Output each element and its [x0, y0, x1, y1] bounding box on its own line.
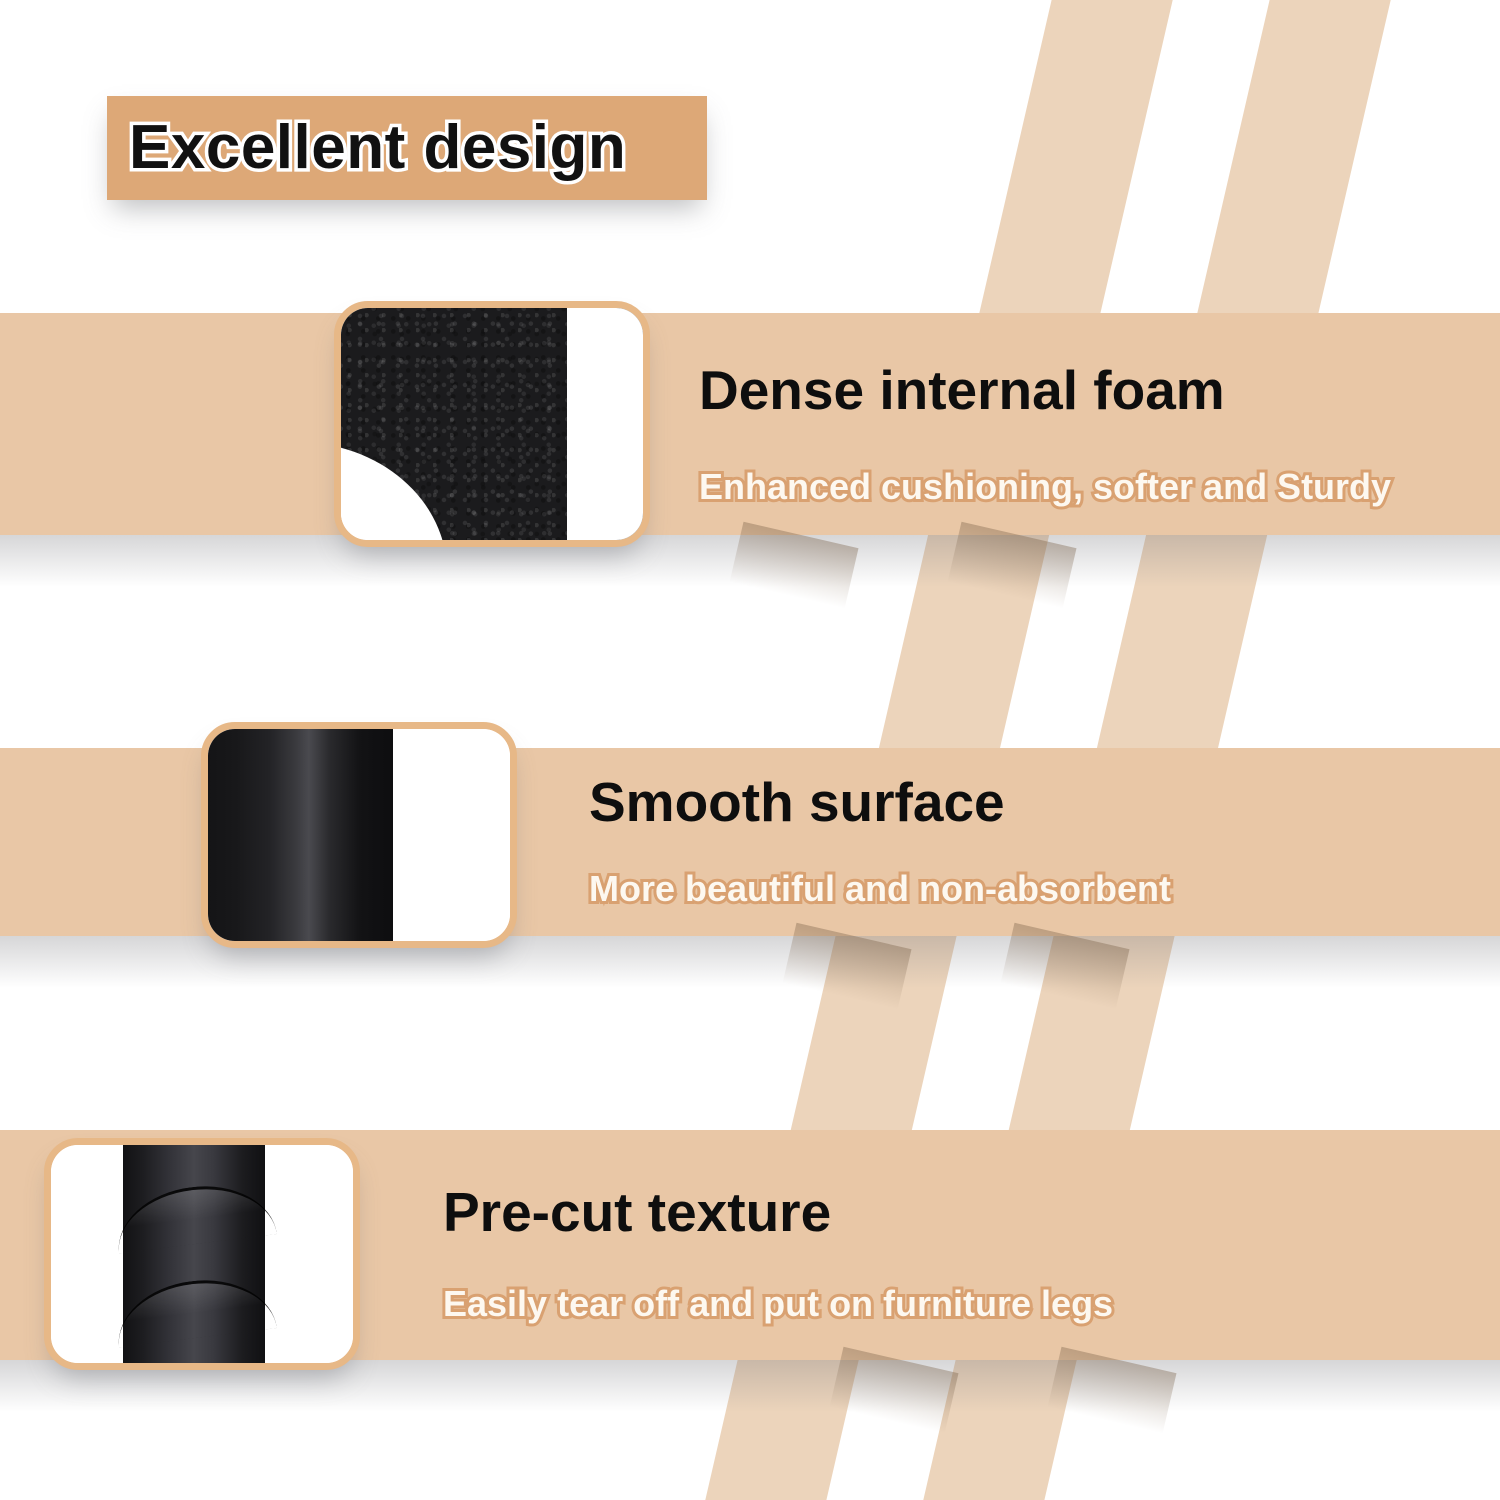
feature-image-card-1 [334, 301, 650, 547]
page-title: Excellent design [129, 100, 626, 196]
tape-roll-body [208, 729, 393, 941]
feature-title-3: Pre-cut texture [443, 1180, 831, 1244]
precut-tape-roll-photo [51, 1145, 353, 1363]
precut-groove-2 [112, 1271, 277, 1347]
feature-title-2: Smooth surface [589, 770, 1005, 834]
foam-corner-photo [341, 308, 643, 540]
feature-title-1: Dense internal foam [699, 358, 1225, 422]
feature-image-card-3 [44, 1138, 360, 1370]
infographic-canvas: Excellent design Dense internal foam Enh… [0, 0, 1500, 1500]
feature-subtitle-2: More beautiful and non-absorbent [589, 868, 1171, 910]
feature-subtitle-1: Enhanced cushioning, softer and Sturdy [699, 466, 1391, 508]
foam-right-white [567, 308, 643, 540]
feature-subtitle-3: Easily tear off and put on furniture leg… [443, 1283, 1113, 1325]
glossy-tape-roll-photo [208, 729, 510, 941]
feature-image-card-2 [201, 722, 517, 948]
precut-roll-body [123, 1145, 265, 1363]
precut-groove-1 [112, 1178, 277, 1254]
foam-corner-shape [341, 308, 643, 540]
